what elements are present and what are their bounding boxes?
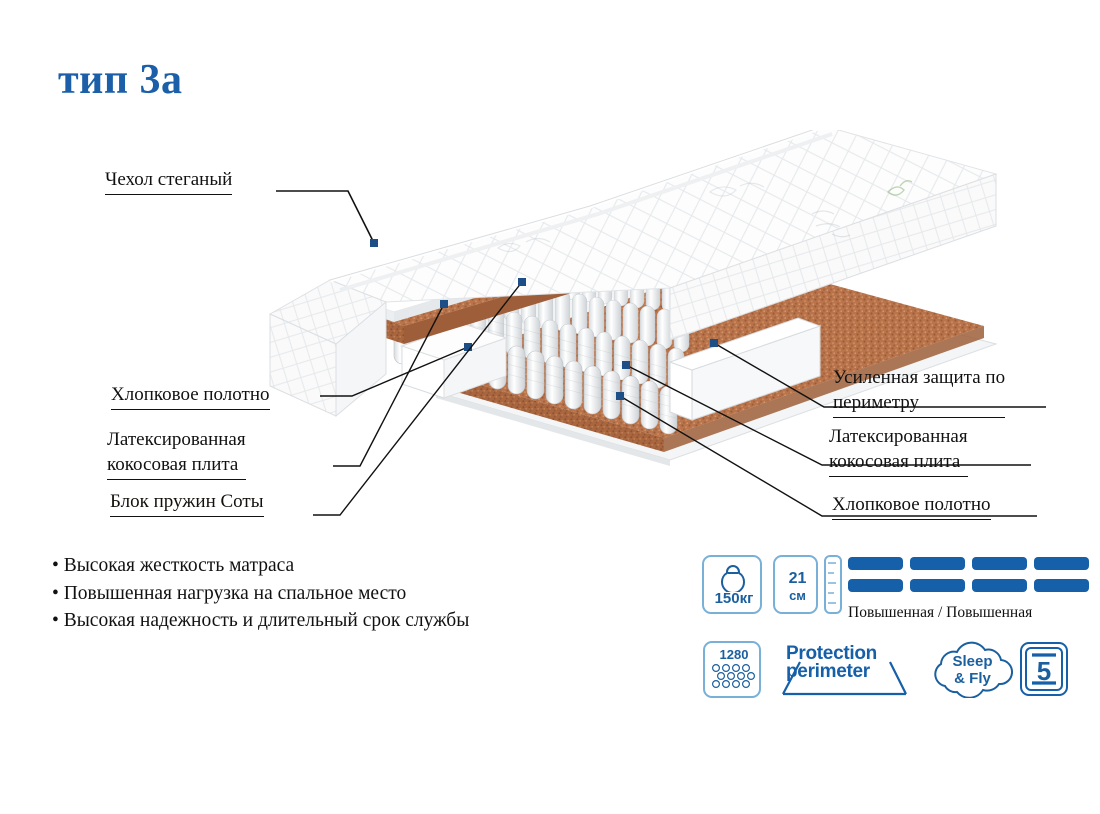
- logo-sleep-and-fly-line-2: & Fly: [925, 670, 1020, 687]
- badge-warranty-years: 5: [1018, 640, 1070, 698]
- callout-coconut-right: Латексированная кокосовая плита: [829, 424, 968, 477]
- feature-item: • Высокая надежность и длительный срок с…: [52, 607, 469, 635]
- feature-item: • Повышенная нагрузка на спальное место: [52, 580, 469, 608]
- firmness-bar: [910, 579, 965, 592]
- firmness-indicator: [848, 557, 1088, 599]
- callout-coconut-right-line-2: кокосовая плита: [829, 449, 968, 477]
- badge-spring-count-value: 1280: [705, 647, 763, 662]
- page-title: тип 3а: [58, 56, 183, 104]
- callout-perimeter: Усиленная защита по периметру: [833, 365, 1005, 418]
- feature-item: • Высокая жесткость матраса: [52, 552, 469, 580]
- firmness-bar: [848, 579, 903, 592]
- callout-cotton-left-line-1: Хлопковое полотно: [111, 382, 270, 410]
- badge-spring-count: 1280: [703, 641, 761, 698]
- callout-cotton-right: Хлопковое полотно: [832, 492, 991, 520]
- callout-perimeter-line-1: Усиленная защита по: [833, 367, 1005, 388]
- spec-badges: 150кг 21 см Повышенная / Повышенная 1280: [700, 552, 1080, 702]
- logo-sleep-and-fly: Sleep & Fly: [925, 640, 1020, 698]
- firmness-bar: [1034, 557, 1089, 570]
- callout-coconut-left-line-1: Латексированная: [107, 429, 246, 450]
- firmness-label: Повышенная / Повышенная: [848, 604, 1032, 622]
- protection-shield-icon: [778, 642, 913, 698]
- callout-coconut-left: Латексированная кокосовая плита: [107, 427, 246, 480]
- callout-coconut-left-line-2: кокосовая плита: [107, 452, 246, 480]
- badge-max-weight: 150кг: [702, 555, 762, 614]
- firmness-bar: [1034, 579, 1089, 592]
- badge-height-number: 21: [775, 570, 820, 588]
- callout-spring-block: Блок пружин Соты: [110, 489, 264, 517]
- badge-max-weight-value: 150кг: [704, 590, 764, 607]
- callout-coconut-right-line-1: Латексированная: [829, 426, 968, 447]
- callout-cover-line-1: Чехол стеганый: [105, 167, 232, 195]
- kettlebell-icon: [705, 560, 761, 592]
- callout-cover: Чехол стеганый: [105, 167, 232, 195]
- feature-list: • Высокая жесткость матраса • Повышенная…: [52, 552, 469, 635]
- firmness-bar: [972, 579, 1027, 592]
- badge-warranty-value: 5: [1018, 656, 1070, 687]
- callout-perimeter-line-2: периметру: [833, 390, 1005, 418]
- firmness-bar: [910, 557, 965, 570]
- logo-protection-perimeter: Protection perimeter: [778, 642, 913, 698]
- firmness-bar: [972, 557, 1027, 570]
- spring-dots-icon: [705, 663, 763, 697]
- callout-spring-block-line-1: Блок пружин Соты: [110, 489, 264, 517]
- logo-sleep-and-fly-line-1: Sleep: [925, 653, 1020, 670]
- badge-height-unit: см: [775, 588, 820, 603]
- callout-cotton-left: Хлопковое полотно: [111, 382, 270, 410]
- callout-cotton-right-line-1: Хлопковое полотно: [832, 492, 991, 520]
- badge-height: 21 см: [773, 555, 818, 614]
- firmness-bar: [848, 557, 903, 570]
- ruler-icon: [824, 555, 842, 614]
